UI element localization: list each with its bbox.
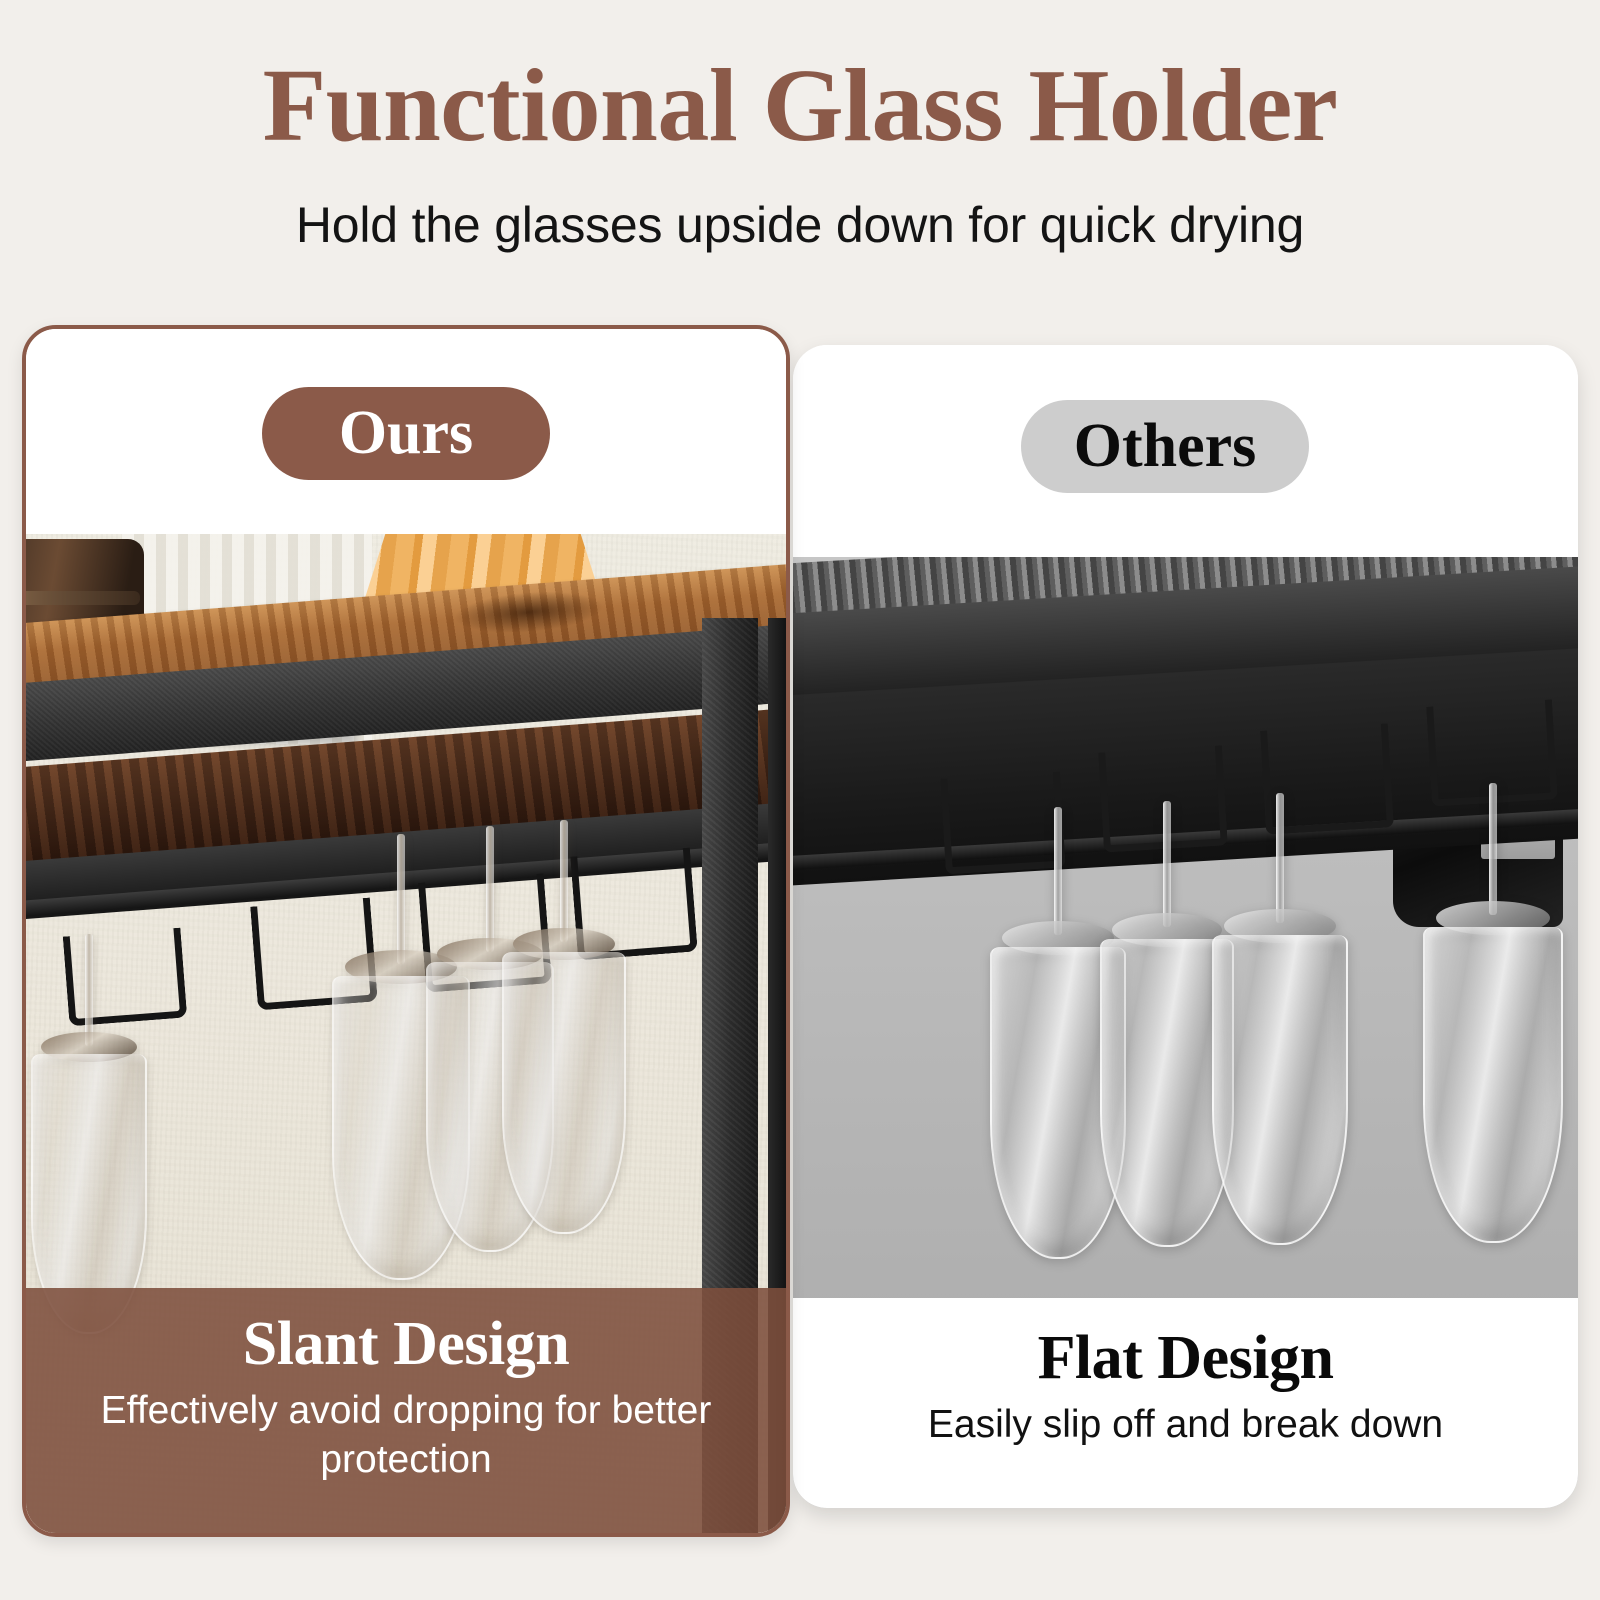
comparison-card-ours: Ours [22, 325, 790, 1537]
glass-stem [486, 826, 494, 952]
wood-knot-decor [452, 587, 605, 638]
others-caption: Flat Design Easily slip off and break do… [793, 1298, 1578, 1508]
glass-bowl [1212, 935, 1348, 1245]
ours-card-header: Ours [26, 329, 786, 534]
badge-others: Others [1021, 400, 1309, 493]
gray-wine-glass-3 [1205, 793, 1355, 1255]
glass-stem [1276, 793, 1284, 923]
infographic-page: Functional Glass Holder Hold the glasses… [0, 0, 1600, 1600]
others-caption-title: Flat Design [793, 1324, 1578, 1392]
wine-glass-1 [26, 934, 152, 1344]
page-title: Functional Glass Holder [0, 0, 1600, 158]
others-caption-subtitle: Easily slip off and break down [793, 1392, 1578, 1449]
glass-stem [1163, 801, 1171, 927]
ours-caption-subtitle: Effectively avoid dropping for better pr… [26, 1378, 786, 1484]
glass-stem [1054, 807, 1062, 935]
comparison-card-others: Others [793, 345, 1578, 1508]
badge-ours: Ours [262, 387, 550, 480]
gray-wine-glass-4 [1417, 783, 1569, 1253]
ours-caption-title: Slant Design [26, 1310, 786, 1378]
glass-bowl [1423, 927, 1563, 1243]
ours-caption: Slant Design Effectively avoid dropping … [26, 1288, 786, 1533]
glass-stem [397, 834, 405, 964]
wine-glass-4 [496, 820, 632, 1240]
glass-stem [85, 934, 93, 1046]
glass-bowl [502, 952, 626, 1234]
glass-stem [560, 820, 568, 942]
page-subtitle: Hold the glasses upside down for quick d… [0, 158, 1600, 254]
header: Functional Glass Holder Hold the glasses… [0, 0, 1600, 254]
glass-stem [1489, 783, 1497, 915]
others-card-header: Others [793, 345, 1578, 557]
